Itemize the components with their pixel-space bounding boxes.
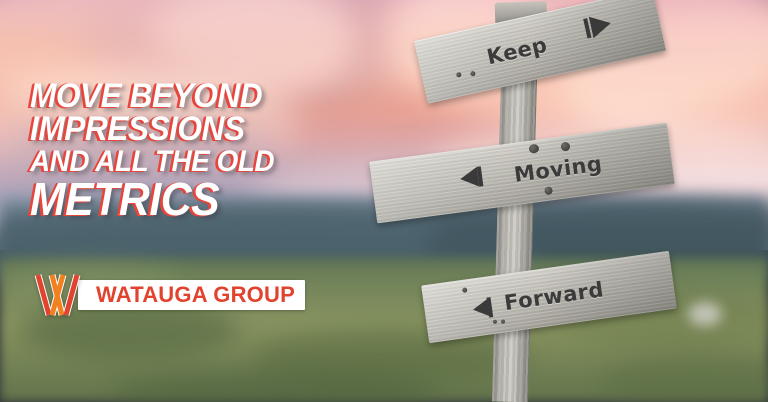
- bolt-icon: [456, 72, 462, 78]
- headline-line-3: AND ALL THE OLD: [30, 147, 356, 176]
- bolt-icon: [493, 320, 498, 325]
- bolt-icon: [501, 319, 506, 324]
- sign-label: Moving: [513, 152, 604, 187]
- bolt-icon: [528, 144, 539, 154]
- headline-line-4: METRICS: [30, 177, 356, 222]
- rock: [688, 302, 722, 326]
- bolt-icon: [544, 186, 553, 195]
- sign-label: Forward: [503, 277, 605, 315]
- headline-line-1: MOVE BEYOND: [30, 80, 356, 113]
- bolt-icon: [560, 142, 570, 152]
- bolt-icon: [470, 71, 476, 77]
- marketing-banner: Keep Moving Forward MOVE BEYOND IMP: [0, 0, 768, 402]
- headline-line-2: IMPRESSIONS: [30, 113, 356, 146]
- watauga-w-mark-icon: [32, 270, 92, 320]
- bolt-icon: [462, 287, 468, 293]
- arrow-right-icon: [589, 12, 613, 38]
- logo[interactable]: WATAUGA GROUP: [32, 270, 305, 320]
- headline: MOVE BEYOND IMPRESSIONS AND ALL THE OLD …: [30, 80, 380, 222]
- logo-wordmark: WATAUGA GROUP: [78, 280, 305, 310]
- sign-label: Keep: [485, 33, 550, 70]
